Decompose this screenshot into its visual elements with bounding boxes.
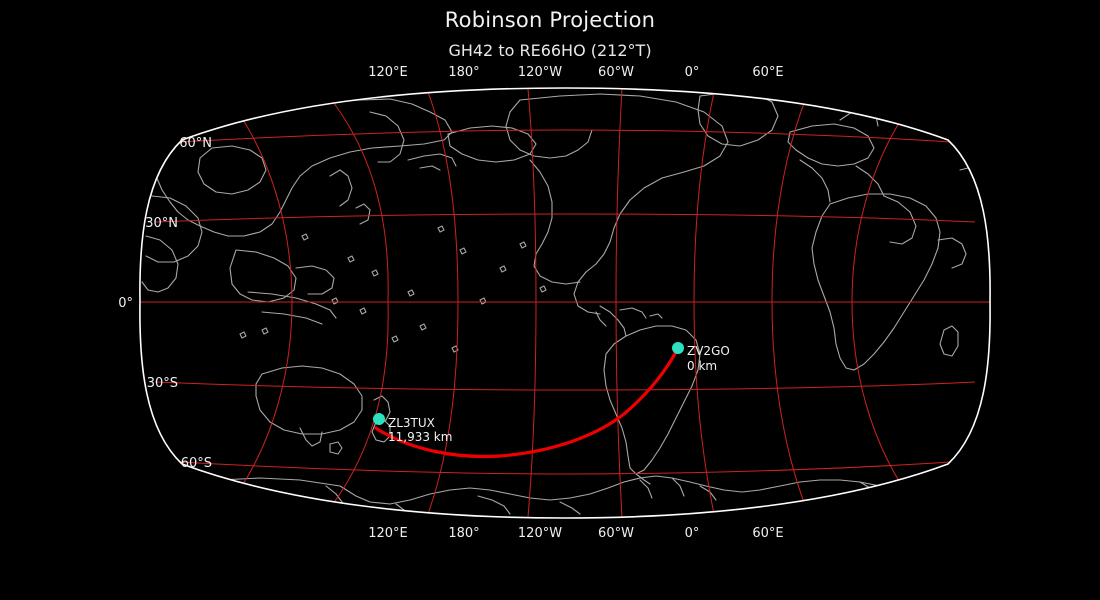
lon-ticks-top: 120°E 180° 120°W 60°W 0° 60°E [368,65,783,80]
lon-tick-top-1: 180° [448,65,479,80]
lon-tick-bottom-5: 60°E [752,526,783,541]
lon-tick-top-3: 60°W [598,65,634,80]
map-background [140,88,990,518]
lat-tick-2: 0° [118,296,133,311]
lon-tick-bottom-2: 120°W [518,526,562,541]
lon-tick-top-2: 120°W [518,65,562,80]
lon-tick-top-4: 0° [685,65,700,80]
lat-tick-3: 30°S [147,376,178,391]
marker-label-zl3tux-distance: 11,933 km [388,430,452,444]
marker-dot-destination[interactable] [373,413,385,425]
marker-dot-origin[interactable] [672,342,684,354]
marker-label-zv2go-distance: 0 km [687,359,717,373]
lon-tick-bottom-3: 60°W [598,526,634,541]
lon-tick-bottom-1: 180° [448,526,479,541]
lon-tick-bottom-0: 120°E [368,526,408,541]
lat-tick-4: 60°S [181,456,212,471]
lon-tick-top-5: 60°E [752,65,783,80]
lat-tick-0: 60°N [179,136,212,151]
marker-label-zl3tux-callsign: ZL3TUX [388,416,435,430]
lon-tick-bottom-4: 0° [685,526,700,541]
lon-tick-top-0: 120°E [368,65,408,80]
robinson-map: ZV2GO 0 km ZL3TUX 11,933 km 120°E 180° 1… [0,0,1100,600]
lat-tick-1: 30°N [145,216,178,231]
lon-ticks-bottom: 120°E 180° 120°W 60°W 0° 60°E [368,526,783,541]
marker-label-zv2go-callsign: ZV2GO [687,344,730,358]
map-figure: Robinson Projection GH42 to RE66HO (212°… [0,0,1100,600]
